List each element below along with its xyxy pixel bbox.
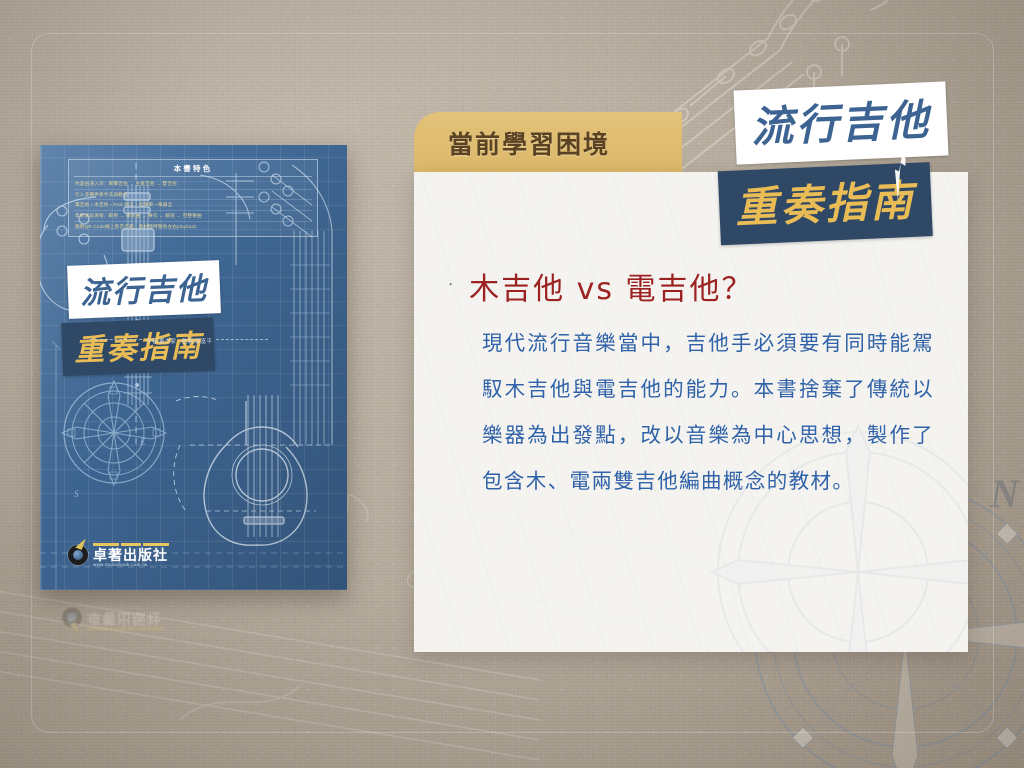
cover-title-line1: 流行吉他 xyxy=(67,260,221,319)
bullet-marker: ‧ xyxy=(448,278,453,294)
product-title-lockup: 流行吉他 重奏指南 xyxy=(735,86,947,234)
cover-feature-line: 章節逐段清晰：範例 → 練習曲 → 樂句 → 解說 → 完整樂曲 xyxy=(74,211,312,222)
content-panel: ‧ 木吉他 vs 電吉他？ 現代流行音樂當中，吉他手必須要有同時能駕馭木吉他與電… xyxy=(414,172,968,652)
reflection-bars xyxy=(87,627,163,630)
publisher-name: 卓著出版社 xyxy=(93,548,169,563)
panel-content: ‧ 木吉他 vs 電吉他？ 現代流行音樂當中，吉他手必須要有同時能駕馭木吉他與電… xyxy=(414,172,968,652)
publisher-disc-icon xyxy=(68,545,88,565)
content-bullet-row: ‧ 木吉他 vs 電吉他？ xyxy=(448,264,934,308)
cover-feature-title: 本書特色 xyxy=(74,163,312,177)
reflection-publisher-name: 卓著出版社 xyxy=(87,611,163,626)
cover-title-line2: 重奏指南 xyxy=(61,317,215,376)
section-header-band: 當前學習困境 xyxy=(414,112,682,172)
content-body-text: 現代流行音樂當中，吉他手必須要有同時能駕馭木吉他與電吉他的能力。本書捨棄了傳統以… xyxy=(482,320,934,504)
publisher-text-block: 卓著出版社 www.musicbook.com.tw xyxy=(93,543,169,568)
reflection-text-block: 卓著出版社 www.musicbook.com.tw xyxy=(87,605,163,630)
credit-text: 作者/董杰家‧監製/郭富平 xyxy=(146,339,212,345)
content-heading: 木吉他 vs 電吉他？ xyxy=(469,264,753,308)
cover-feature-line: 隨附QR Code線上影音示範：教材隨時隨地左右playback xyxy=(74,222,312,232)
publisher-url: www.musicbook.com.tw xyxy=(93,563,169,568)
cover-title-lockup: 流行吉他 重奏指南 xyxy=(68,263,220,369)
credit-rule-right xyxy=(216,339,268,340)
section-header-title: 當前學習困境 xyxy=(448,125,610,161)
cover-feature-line: 內容由淺入深：單聲吉他 → 主奏吉他 → 雙吉他 xyxy=(74,179,312,190)
credit-rule-left xyxy=(90,339,142,340)
product-title-line1: 流行吉他 xyxy=(733,81,948,164)
publisher-mark: 卓著出版社 www.musicbook.com.tw xyxy=(68,543,169,568)
book-cover-image: E S xyxy=(40,145,347,590)
cover-credit-line: 作者/董杰家‧監製/郭富平 xyxy=(86,337,272,345)
slide-canvas: W N xyxy=(0,0,1024,768)
product-title-line2: 重奏指南 xyxy=(718,162,933,245)
cover-feature-box: 本書特色 內容由淺入深：單聲吉他 → 主奏吉他 → 雙吉他 引入多種伴奏手法與觀… xyxy=(68,159,318,237)
cover-feature-line: 電吉他‧木吉他‧Pick‧指法‧指彈單一樂器全 xyxy=(74,200,312,211)
book-cover-reflection: 卓著出版社 www.musicbook.com.tw xyxy=(62,605,163,630)
cover-feature-line: 引入多種伴奏手法與觀念： xyxy=(74,190,312,201)
reflection-publisher-url: www.musicbook.com.tw xyxy=(87,605,163,610)
reflection-disc-icon xyxy=(62,608,82,628)
publisher-bars-decoration xyxy=(93,543,169,546)
